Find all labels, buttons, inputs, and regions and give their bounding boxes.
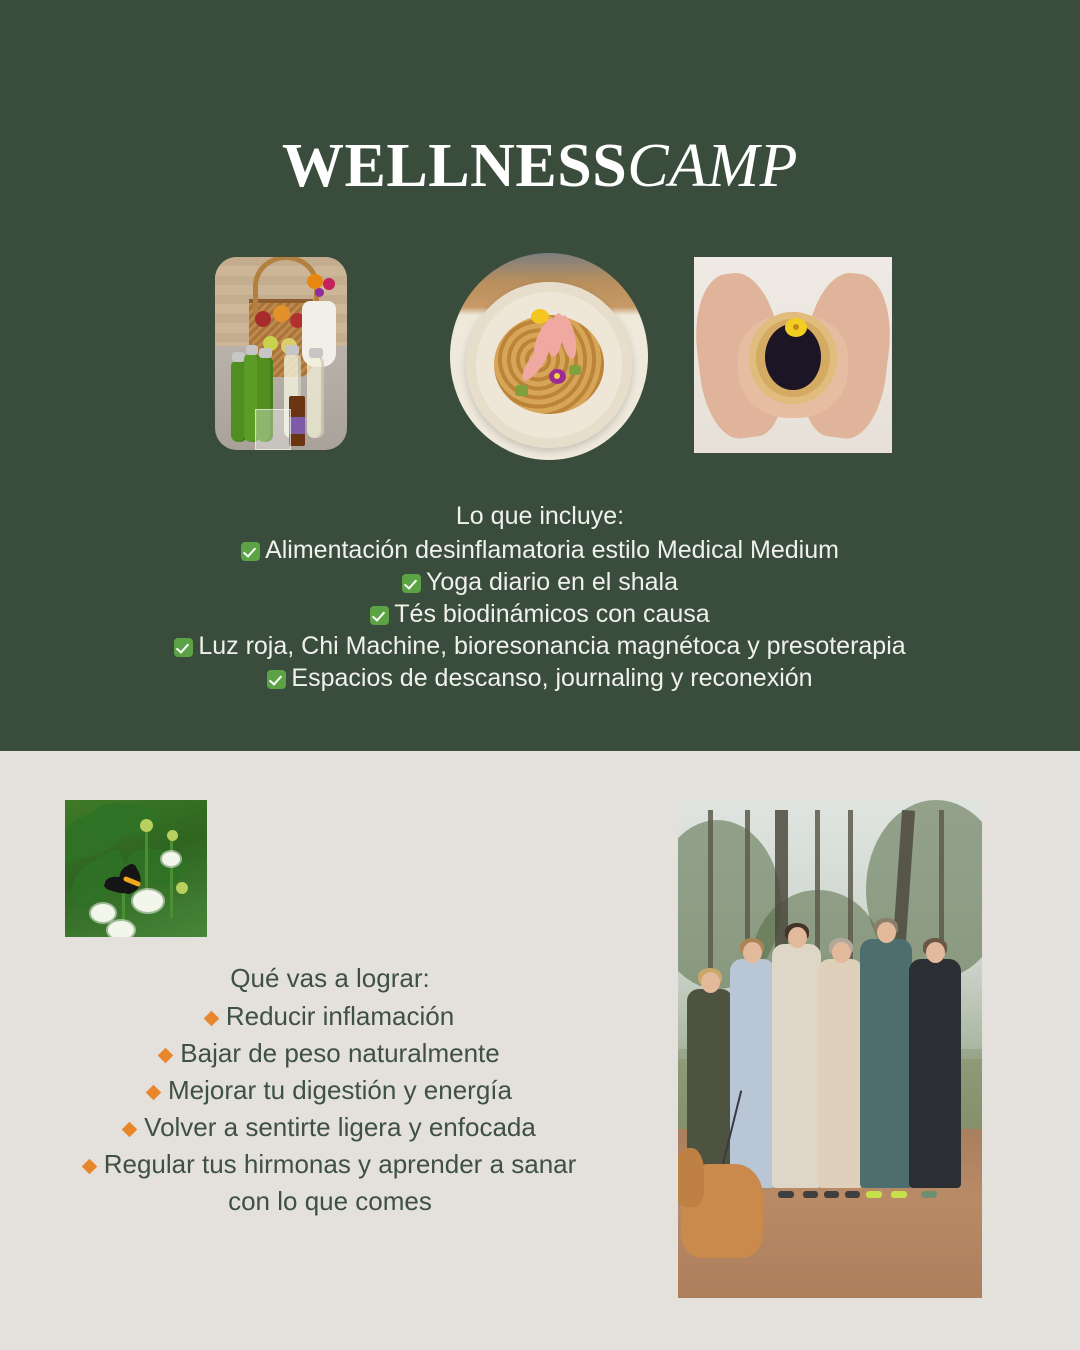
- page-title: WELLNESSCAMP: [0, 130, 1080, 202]
- person-2: [730, 959, 776, 1188]
- dog: [681, 1164, 763, 1259]
- diamond-bullet-icon: [81, 1159, 97, 1175]
- person-4: [818, 959, 864, 1188]
- flower-bud-3: [176, 882, 188, 894]
- tincture-bottle: [289, 396, 305, 446]
- white-flower-3: [162, 852, 180, 866]
- fruit-apple-red: [255, 311, 271, 327]
- includes-item-1-label: Alimentación desinflamatoria estilo Medi…: [265, 536, 839, 564]
- goals-item-1-label: Reducir inflamación: [226, 1001, 454, 1031]
- diamond-bullet-icon: [122, 1122, 138, 1138]
- butterfly-photo: [65, 800, 207, 937]
- wellness-camp-flyer: WELLNESSCAMP: [0, 0, 1080, 1350]
- sneaker-1: [866, 1191, 882, 1198]
- viola-flower: [785, 318, 807, 337]
- goals-heading: Qué vas a lograr:: [0, 960, 660, 997]
- stem-2: [170, 836, 173, 918]
- includes-item-4-label: Luz roja, Chi Machine, bioresonancia mag…: [198, 632, 905, 660]
- flower-bud-1: [140, 819, 153, 832]
- flower-bud-2: [167, 830, 178, 841]
- diamond-bullet-icon: [146, 1085, 162, 1101]
- shoe-4: [845, 1191, 860, 1198]
- white-flower-2: [91, 904, 115, 922]
- shoe-3: [824, 1191, 839, 1198]
- check-icon: [174, 638, 193, 657]
- goals-item-4-label: Volver a sentirte ligera y enfocada: [144, 1112, 536, 1142]
- diamond-bullet-icon: [158, 1048, 174, 1064]
- includes-item-5: Espacios de descanso, journaling y recon…: [0, 662, 1080, 694]
- sneaker-2: [891, 1191, 907, 1198]
- face: [832, 942, 851, 963]
- shoe-5: [921, 1191, 937, 1198]
- face: [743, 942, 762, 963]
- includes-item-4: Luz roja, Chi Machine, bioresonancia mag…: [0, 630, 1080, 662]
- diamond-bullet-icon: [204, 1011, 220, 1027]
- check-icon: [241, 542, 260, 561]
- includes-item-2-label: Yoga diario en el shala: [426, 568, 678, 596]
- hands-tartlet-photo: [694, 257, 892, 453]
- goals-item-3-label: Mejorar tu digestión y energía: [168, 1075, 512, 1105]
- person-6: [909, 959, 961, 1188]
- juice-bottles-photo: [215, 257, 347, 450]
- goals-item-4: Volver a sentirte ligera y enfocada: [0, 1109, 660, 1146]
- includes-item-3: Tés biodinámicos con causa: [0, 598, 1080, 630]
- includes-item-3-label: Tés biodinámicos con causa: [394, 600, 709, 628]
- shoe-1: [778, 1191, 794, 1198]
- noodle-bowl-photo: [450, 253, 648, 460]
- check-icon: [402, 574, 421, 593]
- includes-item-2: Yoga diario en el shala: [0, 566, 1080, 598]
- goals-item-2-label: Bajar de peso naturalmente: [180, 1038, 499, 1068]
- shoe-2: [803, 1191, 818, 1198]
- person-5: [860, 939, 912, 1188]
- includes-item-5-label: Espacios de descanso, journaling y recon…: [291, 664, 812, 692]
- zucchini-piece-1: [515, 385, 528, 396]
- check-icon: [370, 606, 389, 625]
- person-3: [772, 944, 821, 1188]
- glass-tumbler: [255, 409, 291, 450]
- face: [877, 922, 896, 943]
- title-bold-word: WELLNESS: [282, 132, 627, 200]
- clear-juice-bottle-2: [307, 357, 324, 438]
- includes-section: Lo que incluye: Alimentación desinflamat…: [0, 500, 1080, 694]
- check-icon: [267, 670, 286, 689]
- face: [788, 927, 807, 948]
- goals-item-2: Bajar de peso naturalmente: [0, 1035, 660, 1072]
- forest-group-photo: [678, 800, 982, 1298]
- purple-edible-flower: [549, 369, 566, 384]
- face: [701, 972, 720, 993]
- white-flower-4: [108, 921, 134, 937]
- zucchini-piece-2: [569, 365, 581, 375]
- goals-item-3: Mejorar tu digestión y energía: [0, 1072, 660, 1109]
- title-italic-word: CAMP: [627, 132, 798, 200]
- goals-item-1: Reducir inflamación: [0, 998, 660, 1035]
- includes-item-1: Alimentación desinflamatoria estilo Medi…: [0, 534, 1080, 566]
- white-flower-1: [133, 890, 163, 912]
- goals-item-5-label: Regular tus hirmonas y aprender a sanar …: [104, 1149, 577, 1216]
- goals-item-5: Regular tus hirmonas y aprender a sanar …: [0, 1146, 660, 1220]
- face: [926, 942, 945, 963]
- goals-section: Qué vas a lograr: Reducir inflamación Ba…: [0, 960, 660, 1220]
- yellow-edible-flower: [531, 309, 549, 324]
- includes-heading: Lo que incluye:: [0, 500, 1080, 532]
